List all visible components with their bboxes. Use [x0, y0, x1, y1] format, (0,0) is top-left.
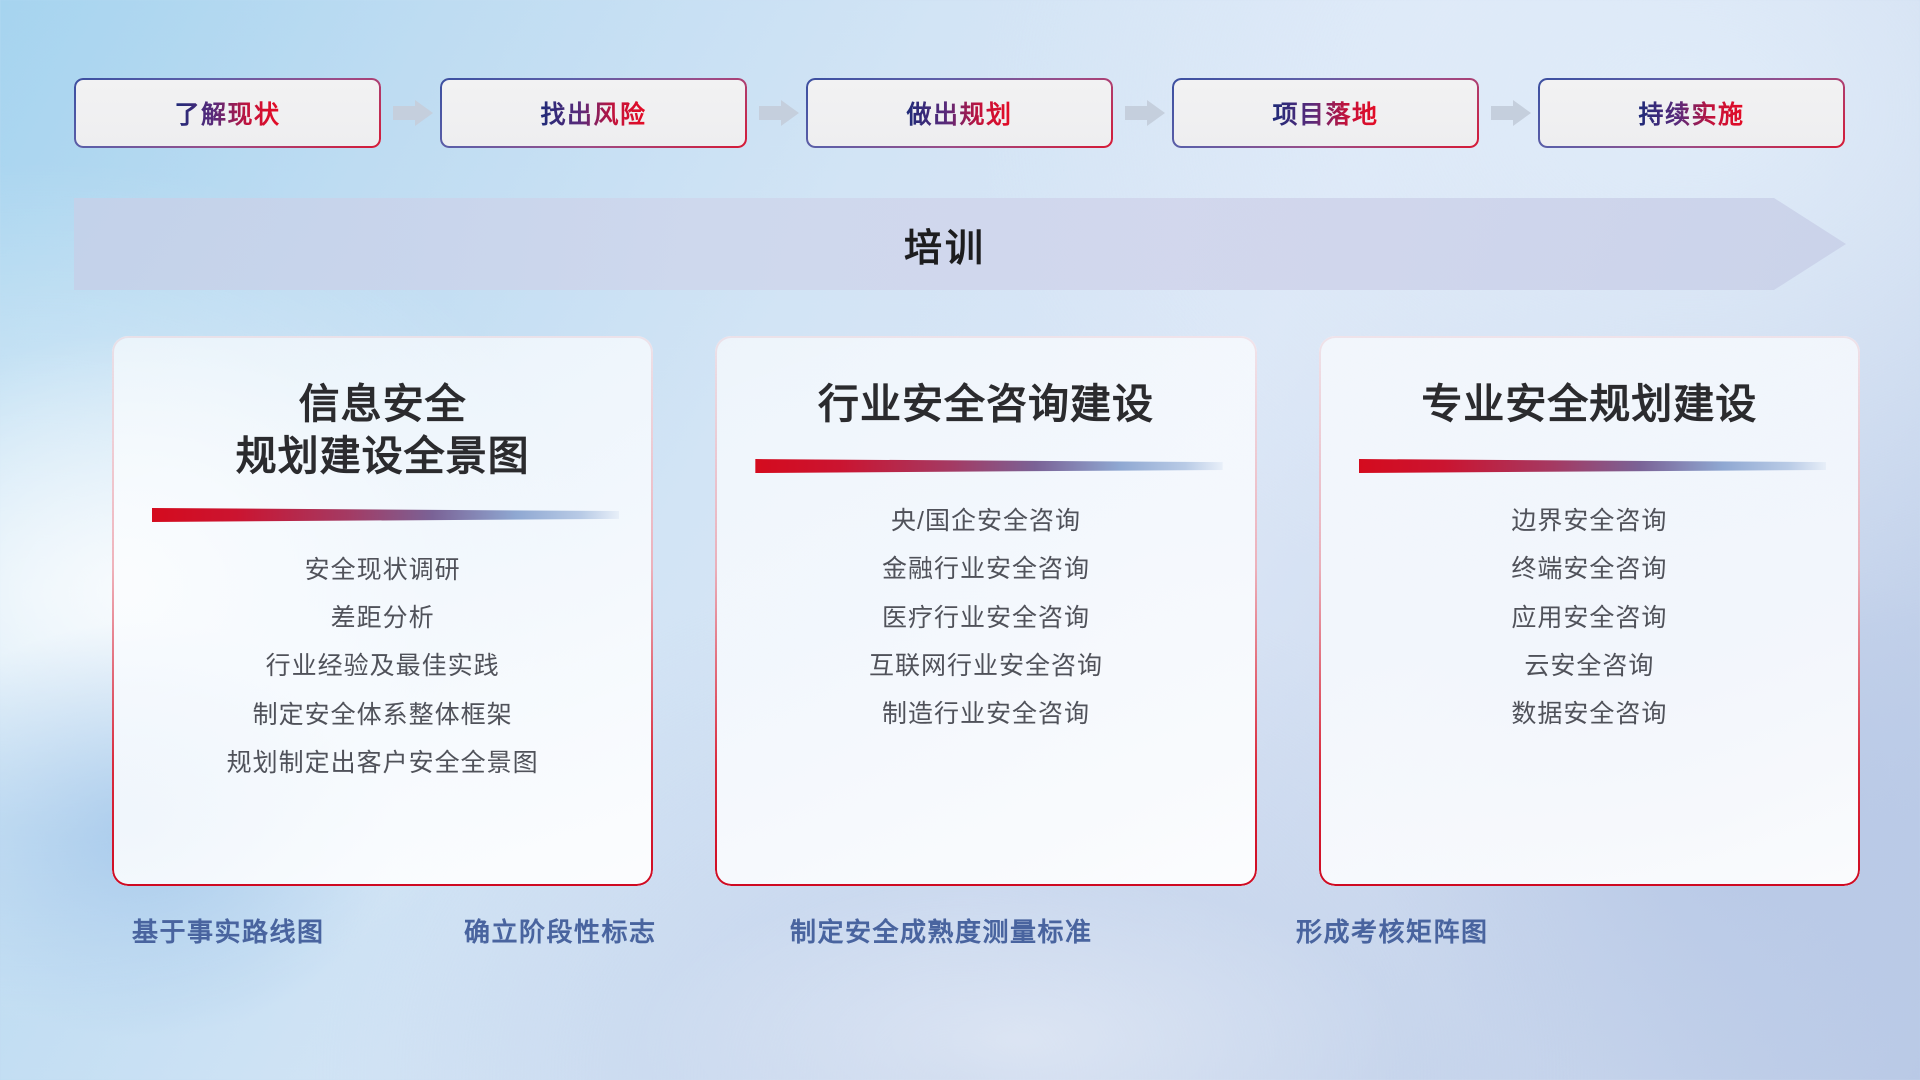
list-item: 医疗行业安全咨询 — [882, 600, 1090, 636]
card-title: 信息安全 规划建设全景图 — [236, 378, 530, 483]
card-list: 边界安全咨询 终端安全咨询 应用安全咨询 云安全咨询 数据安全咨询 — [1511, 503, 1667, 732]
list-item: 金融行业安全咨询 — [882, 551, 1090, 587]
divider-gradient-wedge — [1359, 456, 1826, 473]
card-list: 央/国企安全咨询 金融行业安全咨询 医疗行业安全咨询 互联网行业安全咨询 制造行… — [869, 503, 1103, 732]
step-arrow-2 — [747, 78, 806, 148]
list-item: 制定安全体系整体框架 — [253, 697, 513, 733]
training-banner: 培训 — [74, 198, 1846, 290]
step-box-3[interactable]: 做出规划 — [806, 78, 1113, 148]
list-item: 规划制定出客户安全全景图 — [227, 745, 539, 781]
card-title: 专业安全规划建设 — [1421, 378, 1757, 434]
footer-label-row: 基于事实路线图 确立阶段性标志 制定安全成熟度测量标准 形成考核矩阵图 — [0, 912, 1920, 972]
step-arrow-4 — [1479, 78, 1538, 148]
arrow-right-icon — [759, 100, 799, 126]
list-item: 应用安全咨询 — [1511, 600, 1667, 636]
list-item: 行业经验及最佳实践 — [266, 648, 500, 684]
footer-label-1: 基于事实路线图 — [132, 912, 325, 949]
list-item: 云安全咨询 — [1524, 648, 1654, 684]
card-title-line-1: 行业安全咨询建设 — [818, 378, 1154, 430]
list-item: 制造行业安全咨询 — [882, 696, 1090, 732]
step-arrow-3 — [1113, 78, 1172, 148]
card-title-line-1: 信息安全 — [236, 378, 530, 430]
background-glow-bottom — [640, 880, 1400, 1080]
card-divider — [749, 456, 1222, 473]
step-box-4[interactable]: 项目落地 — [1172, 78, 1479, 148]
list-item: 央/国企安全咨询 — [891, 503, 1081, 539]
step-label-1: 了解现状 — [174, 95, 280, 131]
card-list: 安全现状调研 差距分析 行业经验及最佳实践 制定安全体系整体框架 规划制定出客户… — [227, 552, 539, 781]
list-item: 数据安全咨询 — [1511, 696, 1667, 732]
footer-label-2: 确立阶段性标志 — [464, 912, 657, 949]
step-arrow-1 — [381, 78, 440, 148]
footer-label-4: 形成考核矩阵图 — [1296, 912, 1489, 949]
step-box-5[interactable]: 持续实施 — [1538, 78, 1845, 148]
list-item: 差距分析 — [331, 600, 435, 636]
step-label-3: 做出规划 — [906, 95, 1012, 131]
list-item: 互联网行业安全咨询 — [869, 648, 1103, 684]
card-title-line-2: 规划建设全景图 — [236, 430, 530, 482]
card-group: 信息安全 规划建设全景图 安全现状调研 差距分析 行业经验及最佳实践 制定安全体… — [112, 336, 1860, 886]
list-item: 边界安全咨询 — [1511, 503, 1667, 539]
card-divider — [1353, 456, 1826, 473]
arrow-right-icon — [1491, 100, 1531, 126]
card-divider — [146, 505, 619, 522]
card-title: 行业安全咨询建设 — [818, 378, 1154, 434]
step-label-4: 项目落地 — [1272, 95, 1378, 131]
list-item: 安全现状调研 — [305, 552, 461, 588]
process-step-flow: 了解现状 找出风险 做出规划 项目落地 持续实施 — [74, 78, 1846, 148]
banner-title: 培训 — [74, 198, 1846, 290]
card-industry-security-consulting[interactable]: 行业安全咨询建设 央/国企安全咨询 金融行业安全咨询 医疗行业安全咨询 互联网行… — [715, 336, 1256, 886]
list-item: 终端安全咨询 — [1511, 551, 1667, 587]
step-label-5: 持续实施 — [1638, 95, 1744, 131]
arrow-right-icon — [1125, 100, 1165, 126]
card-title-line-1: 专业安全规划建设 — [1421, 378, 1757, 430]
arrow-right-icon — [393, 100, 433, 126]
card-professional-security-planning[interactable]: 专业安全规划建设 边界安全咨询 终端安全咨询 应用安全咨询 云安全咨询 数据安全… — [1319, 336, 1860, 886]
divider-gradient-wedge — [152, 505, 619, 522]
card-information-security-blueprint[interactable]: 信息安全 规划建设全景图 安全现状调研 差距分析 行业经验及最佳实践 制定安全体… — [112, 336, 653, 886]
step-box-2[interactable]: 找出风险 — [440, 78, 747, 148]
divider-gradient-wedge — [755, 456, 1222, 473]
footer-label-3: 制定安全成熟度测量标准 — [790, 912, 1093, 949]
step-label-2: 找出风险 — [540, 95, 646, 131]
step-box-1[interactable]: 了解现状 — [74, 78, 381, 148]
